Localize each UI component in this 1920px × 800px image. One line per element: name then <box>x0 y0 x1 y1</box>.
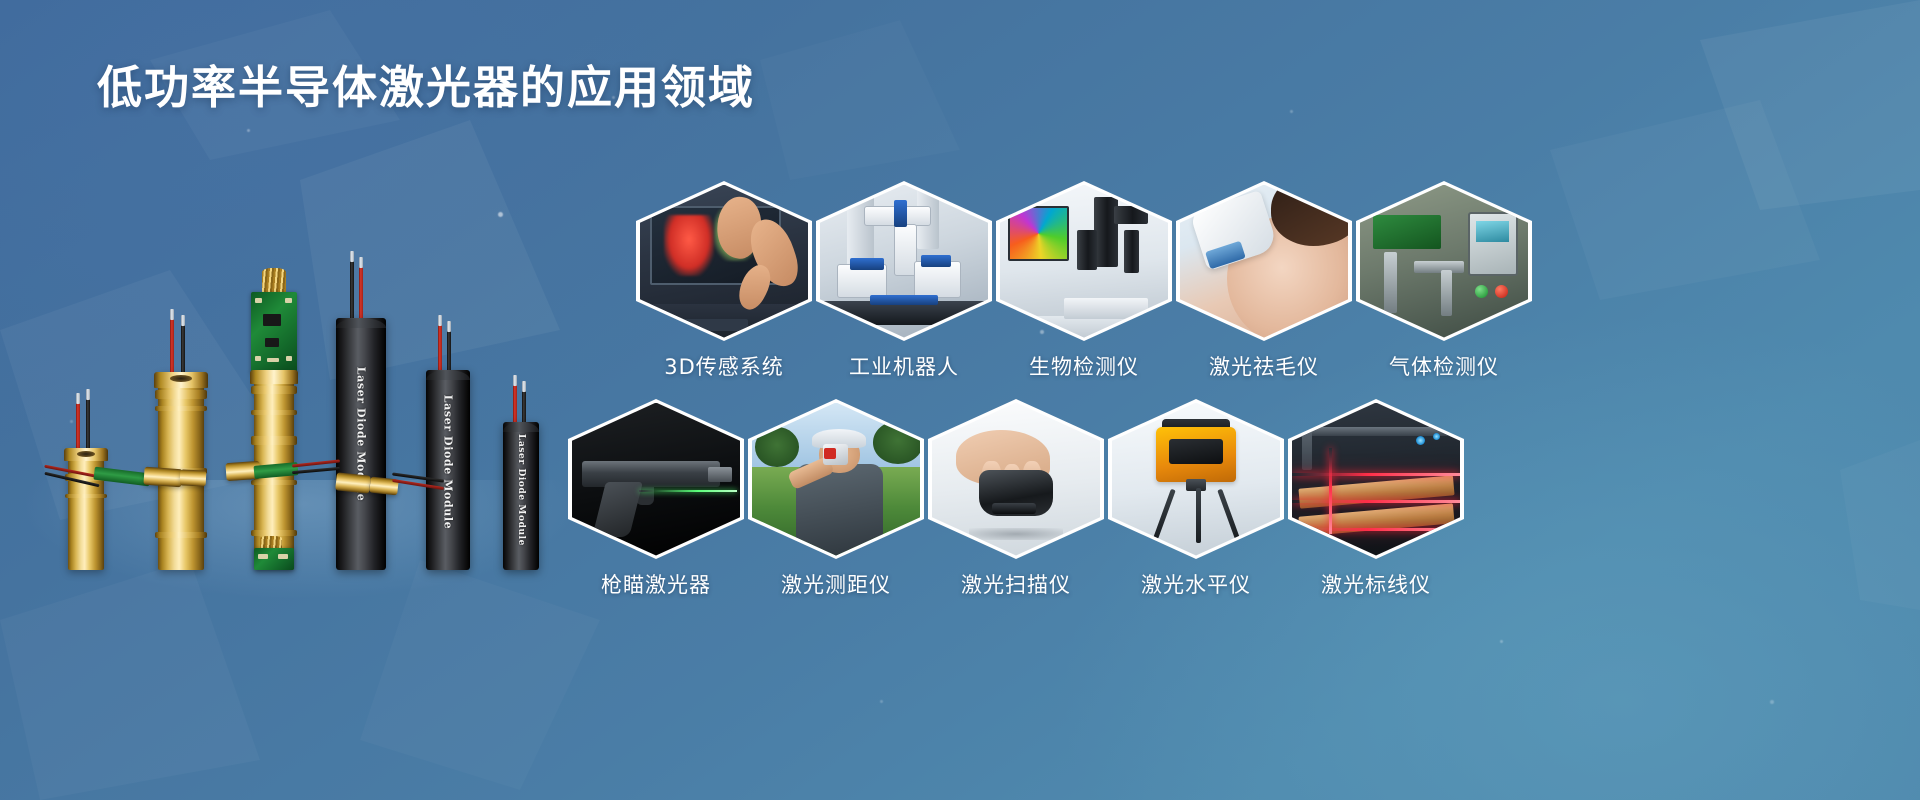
line-laser-image <box>1292 403 1460 556</box>
product-black-module-small: Laser Diode Module <box>495 380 549 570</box>
hex-label: 生物检测仪 <box>996 354 1172 380</box>
hex-label: 激光祛毛仪 <box>1176 354 1352 380</box>
application-banner: 低功率半导体激光器的应用领域 <box>0 0 1920 800</box>
product-brass-module-driver <box>238 250 308 570</box>
hex-label: 激光扫描仪 <box>928 572 1104 598</box>
gun-sight-image <box>572 403 740 556</box>
3d-sensing-image <box>640 185 808 338</box>
hex-cell-industrial-robot[interactable]: 工业机器人 <box>816 181 992 380</box>
rangefinder-image <box>752 403 920 556</box>
hex-label: 气体检测仪 <box>1356 354 1532 380</box>
product-showcase: Laser Diode Module Laser Diode Module La… <box>40 170 580 570</box>
hair-removal-image <box>1180 185 1348 338</box>
product-brass-module-medium <box>148 330 214 570</box>
hex-cell-line-laser[interactable]: 激光标线仪 <box>1288 399 1464 598</box>
hex-cell-gas-detector[interactable]: 气体检测仪 <box>1356 181 1532 380</box>
hexagon-frame <box>1176 181 1352 341</box>
hex-label: 3D传感系统 <box>636 354 812 380</box>
hex-cell-hair-removal[interactable]: 激光祛毛仪 <box>1176 181 1352 380</box>
hex-label: 激光水平仪 <box>1108 572 1284 598</box>
hexagon-frame <box>748 399 924 559</box>
hexagon-frame <box>636 181 812 341</box>
application-hex-grid: 3D传感系统 <box>560 165 1920 710</box>
hex-label: 激光标线仪 <box>1288 572 1464 598</box>
hexagon-frame <box>996 181 1172 341</box>
hex-cell-3d-sensing[interactable]: 3D传感系统 <box>636 181 812 380</box>
hexagon-frame <box>1356 181 1532 341</box>
bio-detector-image <box>1000 185 1168 338</box>
gas-detector-image <box>1360 185 1528 338</box>
page-title: 低功率半导体激光器的应用领域 <box>97 60 755 116</box>
hex-cell-laser-level[interactable]: 激光水平仪 <box>1108 399 1284 598</box>
driver-pcb <box>251 292 297 374</box>
hex-cell-laser-scanner[interactable]: 激光扫描仪 <box>928 399 1104 598</box>
hex-label: 枪瞄激光器 <box>568 572 744 598</box>
hexagon-frame <box>1288 399 1464 559</box>
product-black-module-large: Laser Diode Module <box>328 260 394 570</box>
hex-label: 激光测距仪 <box>748 572 924 598</box>
laser-scanner-image <box>932 403 1100 556</box>
hexagon-frame <box>568 399 744 559</box>
hexagon-frame <box>928 399 1104 559</box>
industrial-robot-image <box>820 185 988 338</box>
product-brass-module-small <box>58 410 114 570</box>
laser-level-image <box>1112 403 1280 556</box>
hex-cell-rangefinder[interactable]: 激光测距仪 <box>748 399 924 598</box>
hex-cell-bio-detector[interactable]: 生物检测仪 <box>996 181 1172 380</box>
hexagon-frame <box>1108 399 1284 559</box>
module-text-label: Laser Diode Module <box>442 395 455 529</box>
hexagon-frame <box>816 181 992 341</box>
module-text-label: Laser Diode Module <box>516 434 526 546</box>
hex-label: 工业机器人 <box>816 354 992 380</box>
hex-cell-gun-sight[interactable]: 枪瞄激光器 <box>568 399 744 598</box>
product-black-module-medium: Laser Diode Module <box>418 320 478 570</box>
